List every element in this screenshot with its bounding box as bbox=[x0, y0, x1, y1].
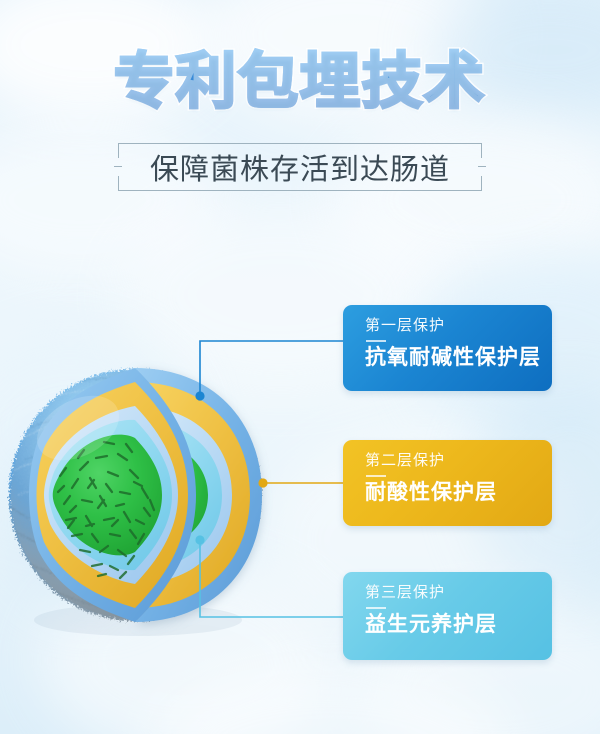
connector-dot-2 bbox=[258, 478, 267, 487]
layer-1-small-label: 第一层保护 bbox=[365, 317, 552, 336]
layer-2-small-label: 第二层保护 bbox=[365, 452, 552, 471]
layer-1-big-label: 抗氧耐碱性保护层 bbox=[365, 345, 552, 371]
connector-dot-1 bbox=[195, 391, 204, 400]
connector-layer-1 bbox=[195, 341, 345, 401]
layer-3-small-label: 第三层保护 bbox=[365, 584, 552, 603]
layer-label-card-3: 第三层保护 益生元养护层 bbox=[343, 572, 552, 660]
layer-1-divider bbox=[366, 340, 386, 342]
layer-2-divider bbox=[366, 475, 386, 477]
page-subtitle: 保障菌株存活到达肠道 bbox=[118, 143, 482, 191]
layer-2-big-label: 耐酸性保护层 bbox=[365, 480, 552, 506]
connector-layer-3 bbox=[195, 535, 345, 617]
page-title: 专利包埋技术 bbox=[0, 0, 600, 112]
layer-3-big-label: 益生元养护层 bbox=[365, 612, 552, 638]
connector-layer-2 bbox=[258, 478, 345, 487]
header: 专利包埋技术 专利包埋技术 保障菌株存活到达肠道 bbox=[0, 0, 600, 112]
subtitle-frame: 保障菌株存活到达肠道 bbox=[118, 143, 482, 191]
connector-dot-3 bbox=[195, 535, 204, 544]
layer-3-divider bbox=[366, 607, 386, 609]
layer-label-card-1: 第一层保护 抗氧耐碱性保护层 bbox=[343, 305, 552, 391]
layer-label-card-2: 第二层保护 耐酸性保护层 bbox=[343, 440, 552, 526]
